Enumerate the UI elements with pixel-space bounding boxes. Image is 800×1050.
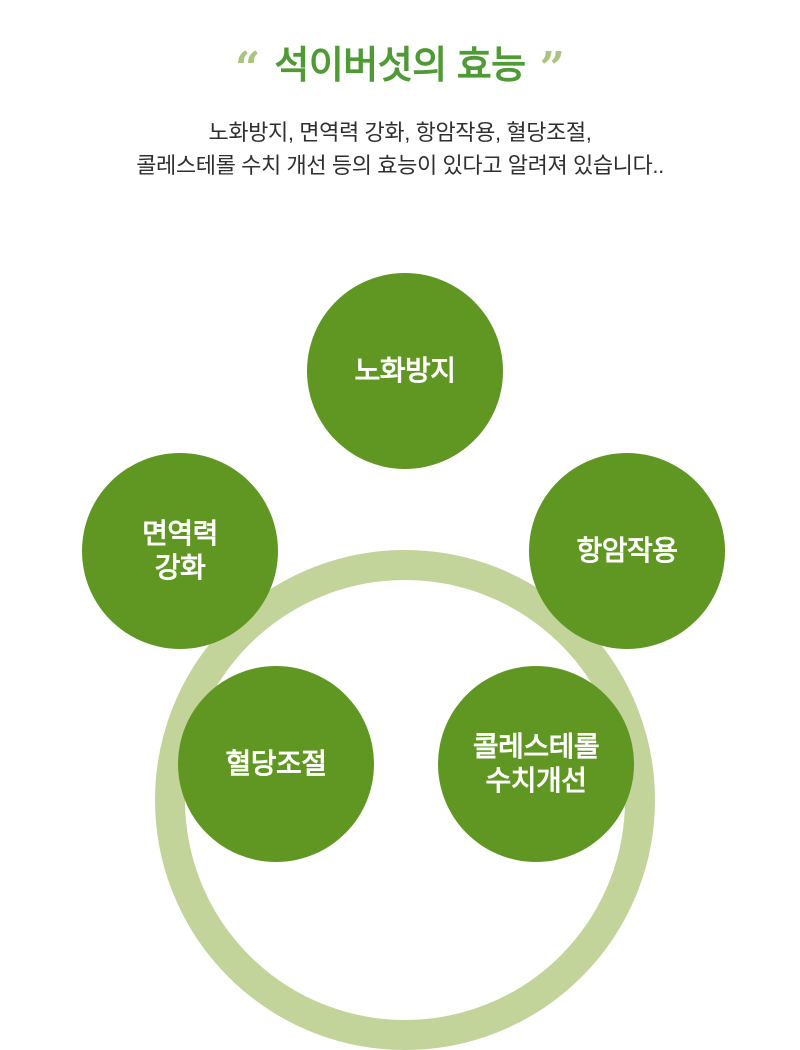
benefit-node-cholesterol[interactable]: 콜레스테롤 수치개선 — [438, 666, 634, 862]
benefit-node-blood-sugar[interactable]: 혈당조절 — [178, 666, 374, 862]
benefit-node-label: 항암작용 — [576, 534, 677, 568]
benefit-node-anti-aging[interactable]: 노화방지 — [307, 273, 503, 469]
benefits-diagram: 노화방지 항암작용 콜레스테롤 수치개선 혈당조절 면역력 강화 — [0, 240, 800, 940]
quote-close-icon: ” — [540, 48, 565, 90]
benefit-node-immunity[interactable]: 면역력 강화 — [82, 453, 278, 649]
subtitle: 노화방지, 면역력 강화, 항암작용, 혈당조절, 콜레스테롤 수치 개선 등의… — [0, 116, 800, 183]
header: “ 석이버섯의 효능 ” 노화방지, 면역력 강화, 항암작용, 혈당조절, 콜… — [0, 0, 800, 183]
benefit-node-label: 콜레스테롤 수치개선 — [473, 730, 599, 798]
benefit-node-anti-cancer[interactable]: 항암작용 — [529, 453, 725, 649]
page-title: “ 석이버섯의 효능 ” — [0, 46, 800, 90]
infographic-page: “ 석이버섯의 효능 ” 노화방지, 면역력 강화, 항암작용, 혈당조절, 콜… — [0, 0, 800, 958]
benefit-node-label: 면역력 강화 — [142, 517, 218, 585]
subtitle-line-1: 노화방지, 면역력 강화, 항암작용, 혈당조절, — [0, 116, 800, 149]
subtitle-line-2: 콜레스테롤 수치 개선 등의 효능이 있다고 알려져 있습니다.. — [0, 149, 800, 182]
quote-open-icon: “ — [235, 48, 260, 90]
page-title-text: 석이버섯의 효능 — [274, 46, 525, 88]
benefit-node-label: 혈당조절 — [225, 747, 326, 781]
benefit-node-label: 노화방지 — [354, 354, 455, 388]
